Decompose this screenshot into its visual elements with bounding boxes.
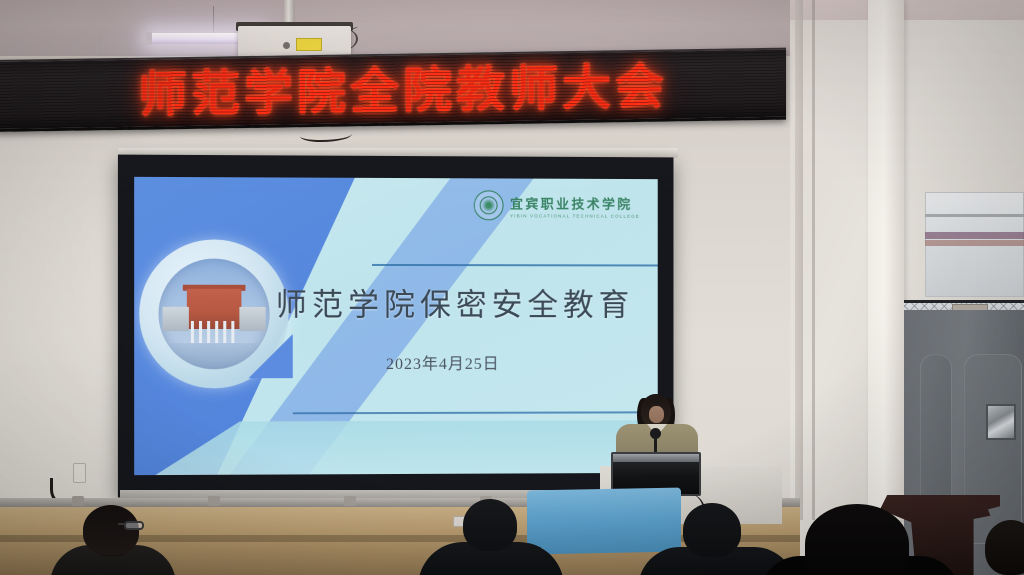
- audience-member-head: [683, 503, 741, 557]
- slide-title: 师范学院保密安全教育: [276, 280, 634, 325]
- window-reflection-stripe: [925, 240, 1024, 246]
- monitor-bezel: [613, 454, 699, 462]
- projection-screen: 宜宾职业技术学院 YIBIN VOCATIONAL TECHNICAL COLL…: [118, 155, 674, 498]
- wall-corner-trim: [795, 0, 803, 520]
- college-name-cn: 宜宾职业技术学院: [510, 193, 640, 212]
- audience-member-head: [805, 504, 909, 575]
- college-logo: 宜宾职业技术学院 YIBIN VOCATIONAL TECHNICAL COLL…: [474, 190, 640, 220]
- eyeglasses-icon: [124, 521, 144, 530]
- window-mullion: [925, 214, 1024, 217]
- presenter-face: [649, 406, 664, 423]
- wall-seam: [812, 0, 815, 520]
- audience-member-head: [985, 520, 1024, 575]
- microphone-icon: [650, 428, 661, 439]
- projector-label: [296, 38, 322, 51]
- projector-lens-knob: [283, 42, 290, 49]
- building-colonnade: [191, 321, 237, 343]
- lecture-hall-photo: 师范学院全院教师大会: [0, 0, 1024, 575]
- slide-date: 2023年4月25日: [386, 349, 500, 373]
- led-banner: 师范学院全院教师大会: [0, 48, 786, 132]
- lamp-end-cap: [145, 32, 152, 45]
- building-wing-right: [239, 307, 265, 331]
- rail-clip: [72, 496, 84, 506]
- led-banner-text: 师范学院全院教师大会: [138, 60, 668, 122]
- window-reflection-stripe: [925, 232, 1024, 239]
- slide-ring-graphic: [139, 239, 289, 388]
- lamp-suspension-wire: [213, 6, 214, 34]
- college-seal-icon: [474, 190, 504, 220]
- rail-clip: [344, 496, 356, 506]
- door-window-icon: [986, 404, 1016, 440]
- college-logo-text: 宜宾职业技术学院 YIBIN VOCATIONAL TECHNICAL COLL…: [510, 193, 640, 218]
- building-plaza: [159, 343, 270, 369]
- college-name-en: YIBIN VOCATIONAL TECHNICAL COLLEGE: [510, 213, 640, 218]
- audience-member-head: [83, 505, 139, 555]
- audience-member-head: [463, 499, 517, 551]
- eyeglasses-temple: [118, 523, 125, 525]
- structural-pillar: [868, 0, 904, 520]
- building-wing-left: [163, 307, 189, 331]
- rail-clip: [208, 496, 220, 506]
- blue-table: [527, 488, 681, 555]
- campus-building-photo: [159, 259, 270, 370]
- slide-surface: 宜宾职业技术学院 YIBIN VOCATIONAL TECHNICAL COLL…: [134, 177, 658, 475]
